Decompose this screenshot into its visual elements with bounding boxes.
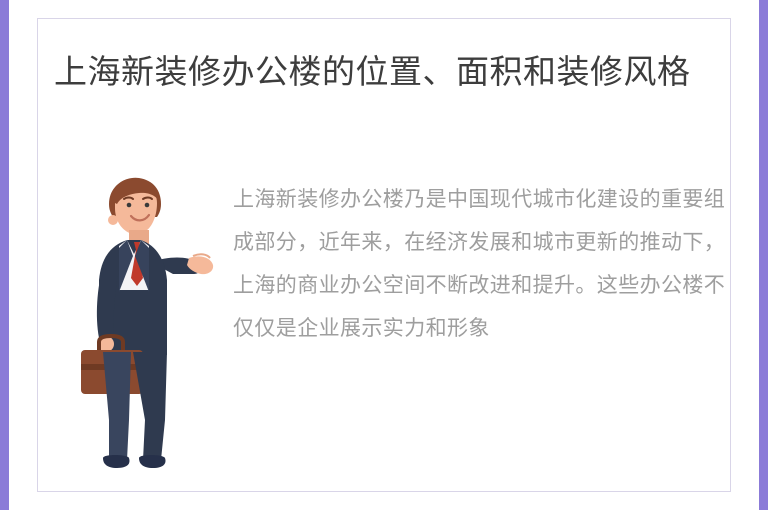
businessman-with-briefcase-illustration	[69, 170, 219, 480]
article-card: 上海新装修办公楼的位置、面积和装修风格	[0, 0, 768, 510]
article-body: 上海新装修办公楼乃是中国现代城市化建设的重要组成部分，近年来，在经济发展和城市更…	[233, 178, 733, 350]
page-title: 上海新装修办公楼的位置、面积和装修风格	[54, 48, 734, 96]
